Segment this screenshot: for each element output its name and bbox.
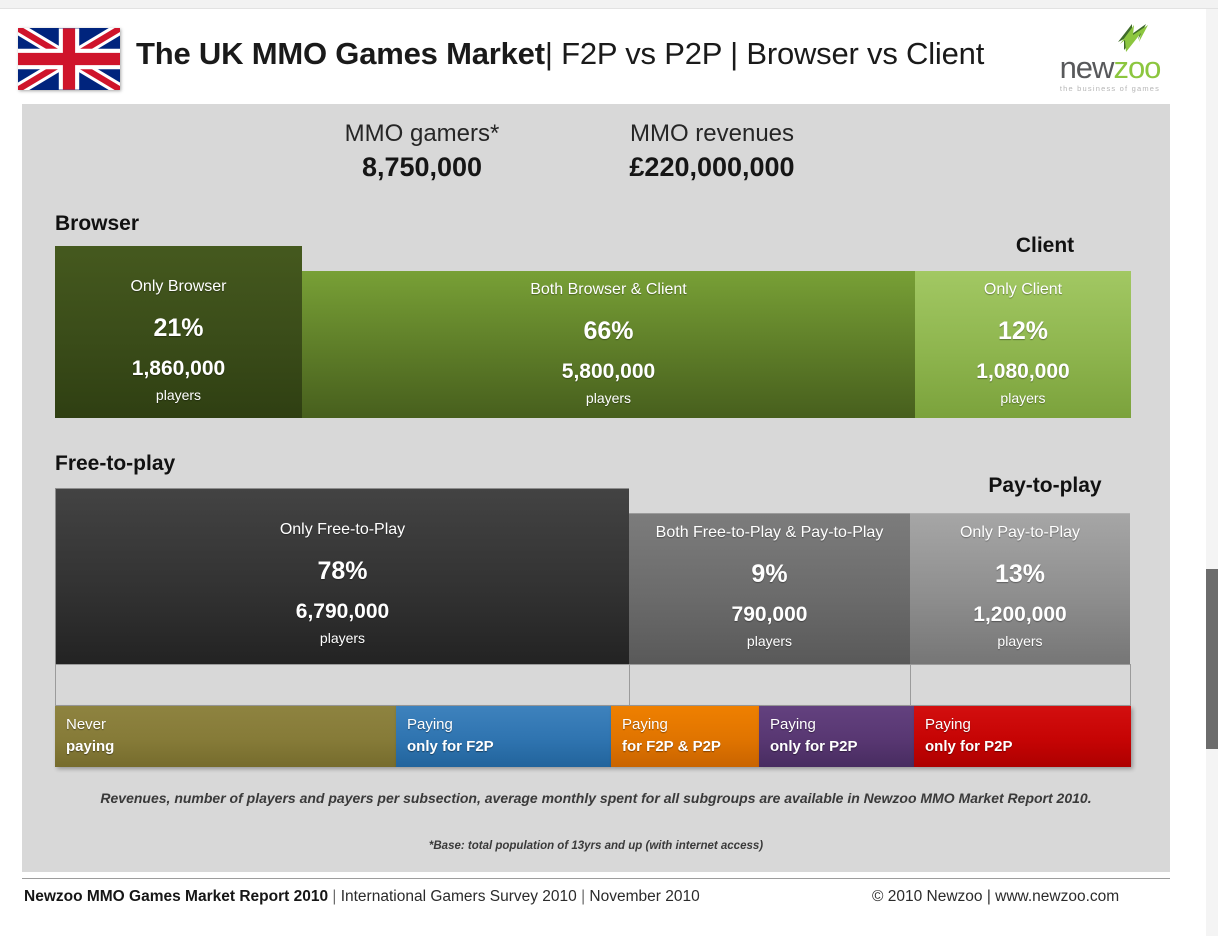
segment-players: 790,000 xyxy=(629,603,910,627)
newzoo-logo[interactable]: newzoo the business of games xyxy=(1040,22,1180,100)
segment-percent: 9% xyxy=(629,560,910,589)
kpi-mmo-revenues: MMO revenues £220,000,000 xyxy=(582,120,842,183)
footnote-primary: Revenues, number of players and payers p… xyxy=(22,790,1170,806)
segment-percent: 78% xyxy=(56,557,629,586)
payer-line-2: paying xyxy=(66,738,114,755)
segment-title: Only Client xyxy=(915,281,1131,299)
segment-players: 1,200,000 xyxy=(910,603,1130,627)
segment-percent: 66% xyxy=(302,317,915,346)
bar-segment-both-browser-client[interactable]: Both Browser & Client 66% 5,800,000 play… xyxy=(302,271,915,418)
footer-divider xyxy=(22,878,1170,879)
payer-line-2: only for P2P xyxy=(770,738,858,755)
segment-title: Only Browser xyxy=(55,278,302,296)
logo-word-zoo: zoo xyxy=(1113,50,1160,85)
payer-segment-only-p2p[interactable]: Paying only for P2P xyxy=(914,706,1131,767)
segment-unit: players xyxy=(56,630,629,646)
bar-segment-only-pay-to-play[interactable]: Only Pay-to-Play 13% 1,200,000 players xyxy=(910,513,1130,664)
page-title: The UK MMO Games Market| F2P vs P2P | Br… xyxy=(136,36,984,72)
segment-percent: 12% xyxy=(915,317,1131,346)
section-label-free-to-play: Free-to-play xyxy=(55,452,175,476)
newzoo-wordmark: newzoo xyxy=(1040,50,1180,86)
segment-unit: players xyxy=(55,387,302,403)
footnote-base: *Base: total population of 13yrs and up … xyxy=(22,840,1170,852)
payer-line-1: Paying xyxy=(407,716,453,733)
uk-flag-icon xyxy=(18,28,120,90)
kpi-label: MMO revenues xyxy=(582,120,842,148)
segment-players: 6,790,000 xyxy=(56,600,629,624)
infographic-page: The UK MMO Games Market| F2P vs P2P | Br… xyxy=(0,0,1218,936)
connector-strip-pay-to-play xyxy=(910,664,1131,706)
segment-unit: players xyxy=(910,633,1130,649)
kpi-value: £220,000,000 xyxy=(582,152,842,183)
segment-unit: players xyxy=(629,633,910,649)
chart-panel: MMO gamers* 8,750,000 MMO revenues £220,… xyxy=(22,104,1170,872)
logo-tagline: the business of games xyxy=(1040,84,1180,93)
segment-title: Both Browser & Client xyxy=(302,281,915,299)
payer-line-1: Paying xyxy=(770,716,816,733)
footer-report: Newzoo MMO Games Market Report 2010 xyxy=(24,888,328,905)
segment-players: 1,080,000 xyxy=(915,360,1131,384)
footer-source: Newzoo MMO Games Market Report 2010 | In… xyxy=(24,888,700,906)
segment-players: 1,860,000 xyxy=(55,357,302,381)
payer-segment-f2p-and-p2p[interactable]: Paying for F2P & P2P xyxy=(611,706,759,767)
payer-line-2: for F2P & P2P xyxy=(622,738,721,755)
footer-date: November 2010 xyxy=(589,888,699,905)
bar-segment-only-browser[interactable]: Only Browser 21% 1,860,000 players xyxy=(55,246,302,418)
footer-separator-2: | xyxy=(577,888,590,905)
section-label-pay-to-play: Pay-to-play xyxy=(938,474,1152,498)
segment-title: Only Pay-to-Play xyxy=(910,524,1130,542)
connector-strip-free-to-play xyxy=(55,664,630,706)
scrollbar-track[interactable] xyxy=(1206,9,1218,936)
bar-segment-only-client[interactable]: Only Client 12% 1,080,000 players xyxy=(915,271,1131,418)
window-top-strip xyxy=(0,0,1218,9)
kpi-value: 8,750,000 xyxy=(302,152,542,183)
segment-percent: 21% xyxy=(55,314,302,343)
segment-unit: players xyxy=(302,390,915,406)
payer-segment-only-f2p[interactable]: Paying only for F2P xyxy=(396,706,611,767)
page-title-bold: The UK MMO Games Market xyxy=(136,36,545,71)
kpi-mmo-gamers: MMO gamers* 8,750,000 xyxy=(302,120,542,183)
segment-players: 5,800,000 xyxy=(302,360,915,384)
connector-strip-both xyxy=(629,664,911,706)
section-label-browser: Browser xyxy=(55,212,139,236)
bar-segment-both-f2p-p2p[interactable]: Both Free-to-Play & Pay-to-Play 9% 790,0… xyxy=(629,513,910,664)
payer-segment-never-paying[interactable]: Never paying xyxy=(55,706,396,767)
segment-percent: 13% xyxy=(910,560,1130,589)
payer-line-1: Never xyxy=(66,716,106,733)
segment-title: Only Free-to-Play xyxy=(56,521,629,539)
segment-title: Both Free-to-Play & Pay-to-Play xyxy=(629,524,910,542)
payer-segment-only-p2p-both[interactable]: Paying only for P2P xyxy=(759,706,914,767)
payer-line-2: only for P2P xyxy=(925,738,1013,755)
footer-survey: International Gamers Survey 2010 xyxy=(341,888,577,905)
payer-line-1: Paying xyxy=(622,716,668,733)
payer-line-1: Paying xyxy=(925,716,971,733)
payer-line-2: only for F2P xyxy=(407,738,494,755)
kpi-label: MMO gamers* xyxy=(302,120,542,148)
section-label-client: Client xyxy=(938,234,1152,258)
footer-copyright: © 2010 Newzoo | www.newzoo.com xyxy=(872,888,1119,906)
bar-segment-only-free-to-play[interactable]: Only Free-to-Play 78% 6,790,000 players xyxy=(55,488,629,664)
scrollbar-thumb[interactable] xyxy=(1206,569,1218,749)
page-title-light: | F2P vs P2P | Browser vs Client xyxy=(545,36,984,71)
segment-unit: players xyxy=(915,390,1131,406)
header: The UK MMO Games Market| F2P vs P2P | Br… xyxy=(18,22,1170,94)
footer-separator-1: | xyxy=(328,888,341,905)
logo-word-new: new xyxy=(1060,50,1114,85)
